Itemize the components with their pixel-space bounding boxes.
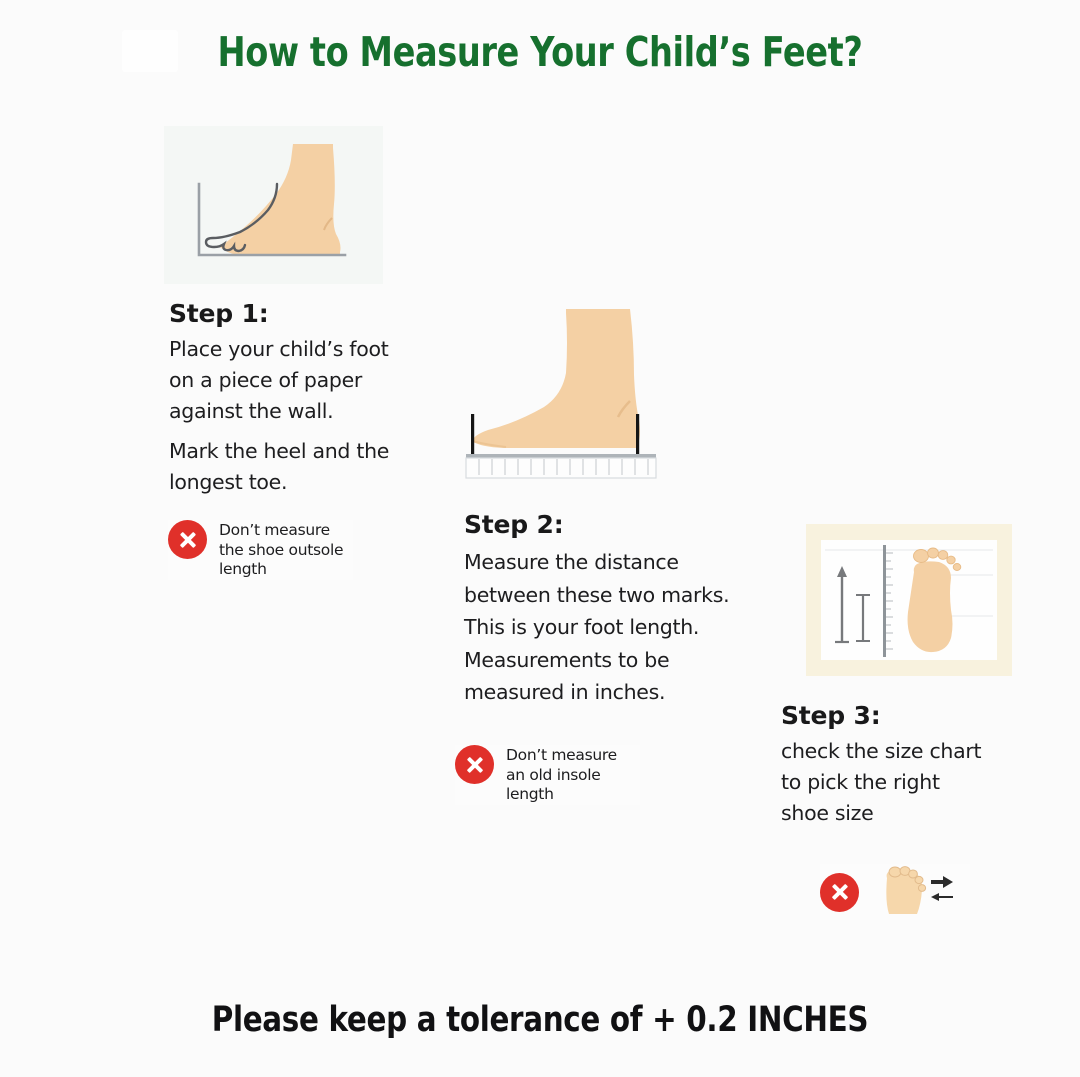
foot-side-view-against-wall-illustration [164,126,383,284]
step1-warning-text: Don’t measure the shoe outsole length [219,520,343,580]
step2-warning-line-2: an old insole [506,766,617,786]
step3-line-1: check the size chart [781,736,981,767]
foot-on-ruler-with-two-marks-illustration [458,303,678,483]
step2-body: Measure the distance between these two m… [464,546,729,709]
step2-warning-line-1: Don’t measure [506,746,617,766]
step3-body: check the size chart to pick the right s… [781,736,981,829]
step2-line-3: This is your foot length. [464,611,729,644]
step1-line-1: Place your child’s foot [169,334,389,365]
step1-heading: Step 1: [169,299,269,328]
heel-mark-line [636,414,639,454]
step3-illustration-card [806,524,1012,676]
arrow-right-bold [931,876,953,888]
step2-line-1: Measure the distance [464,546,729,579]
step2-line-4: Measurements to be [464,644,729,677]
step1-warning-badge: Don’t measure the shoe outsole length [168,520,353,580]
red-x-circle-icon [820,873,859,912]
step3-chart-panel [821,540,997,660]
ruler-body [466,458,656,478]
step1-warning-line-3: length [219,560,343,580]
step3-line-2: to pick the right [781,767,981,798]
foot-silhouette [220,144,341,255]
step2-warning-text: Don’t measure an old insole length [506,745,617,805]
step1-line-2: on a piece of paper [169,365,389,396]
step1-line-3: against the wall. [169,396,389,427]
step2-warning-line-3: length [506,785,617,805]
ruler-top-edge [466,454,656,458]
arrow-left-thin [931,893,953,901]
step2-heading: Step 2: [464,510,564,539]
step1-body: Place your child’s foot on a piece of pa… [169,334,389,498]
step3-line-3: shoe size [781,798,981,829]
step2-illustration [458,303,678,483]
vertical-ruler-ticks [886,553,893,649]
toe-mark-line [471,414,474,454]
foot-silhouette [472,309,640,448]
step2-warning-badge: Don’t measure an old insole length [455,745,640,805]
footprint-toes-with-arrows-icon [873,864,959,920]
tolerance-note: Please keep a tolerance of + 0.2 INCHES [86,1000,993,1040]
red-x-circle-icon [168,520,207,559]
step1-warning-line-2: the shoe outsole [219,541,343,561]
length-arrow-long [835,566,849,642]
step2-line-5: measured in inches. [464,676,729,709]
step3-heading: Step 3: [781,701,881,730]
step1-line-4: Mark the heel and the [169,436,389,467]
step1-paragraph-gap [169,427,389,436]
infographic-page: How to Measure Your Child’s Feet? Step 1… [0,0,1080,1077]
length-arrow-short [856,595,870,641]
footprint-on-measuring-chart-illustration [821,540,997,660]
page-title: How to Measure Your Child’s Feet? [97,28,983,76]
footprint-sole [908,561,953,652]
step1-illustration-card [164,126,383,284]
red-x-circle-icon [455,745,494,784]
step1-warning-line-1: Don’t measure [219,521,343,541]
step1-line-5: longest toe. [169,467,389,498]
step2-line-2: between these two marks. [464,579,729,612]
step3-warning-badge [820,864,970,920]
vertical-ruler [883,545,886,657]
